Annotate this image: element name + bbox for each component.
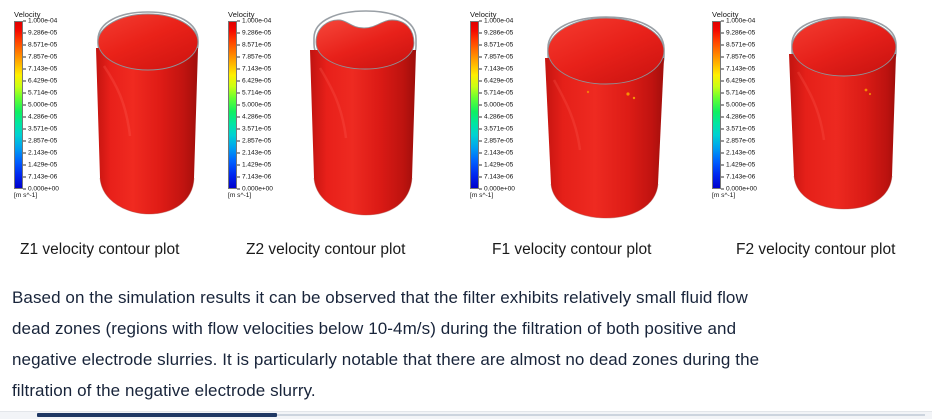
tick-dash-icon bbox=[479, 21, 482, 22]
tick-dash-icon bbox=[237, 44, 240, 45]
tick-dash-icon bbox=[23, 68, 26, 69]
colorbar-tick-label: 0.000e+00 bbox=[242, 186, 273, 193]
colorbar-tick-label: 0.000e+00 bbox=[726, 186, 757, 193]
colorbar-ticks: 1.000e-04 9.286e-05 8.571e-05 7.857e-05 … bbox=[479, 21, 532, 189]
tick-dash-icon bbox=[721, 44, 724, 45]
colorbar-tick-label: 7.143e-06 bbox=[242, 173, 271, 180]
tick-dash-icon bbox=[479, 189, 482, 190]
tick-dash-icon bbox=[479, 32, 482, 33]
tick-dash-icon bbox=[237, 32, 240, 33]
colorbar-tick-label: 5.714e-05 bbox=[484, 89, 513, 96]
cylinder-render-z1 bbox=[86, 6, 208, 221]
panel-caption-z1: Z1 velocity contour plot bbox=[20, 240, 179, 260]
colorbar-ticks: 1.000e-04 9.286e-05 8.571e-05 7.857e-05 … bbox=[721, 21, 774, 189]
colorbar-body: 1.000e-04 9.286e-05 8.571e-05 7.857e-05 … bbox=[228, 21, 290, 189]
colorbar-gradient bbox=[14, 21, 23, 189]
paragraph-line: Based on the simulation results it can b… bbox=[12, 282, 922, 313]
tick-dash-icon bbox=[479, 176, 482, 177]
tick-dash-icon bbox=[721, 189, 724, 190]
tick-dash-icon bbox=[237, 105, 240, 106]
colorbar-tick-label: 6.429e-05 bbox=[28, 77, 57, 84]
tick-dash-icon bbox=[479, 92, 482, 93]
tick-dash-icon bbox=[479, 164, 482, 165]
colorbar-tick-label: 5.000e-05 bbox=[28, 102, 57, 109]
tick-dash-icon bbox=[23, 56, 26, 57]
tick-dash-icon bbox=[23, 164, 26, 165]
colorbar-tick-label: 1.000e-04 bbox=[28, 18, 57, 25]
tick-dash-icon bbox=[721, 140, 724, 141]
tick-dash-icon bbox=[23, 92, 26, 93]
colorbar-tick-label: 7.143e-05 bbox=[28, 65, 57, 72]
tick-dash-icon bbox=[721, 105, 724, 106]
scrollbar-track[interactable] bbox=[277, 414, 925, 416]
colorbar-tick-label: 7.857e-05 bbox=[484, 53, 513, 60]
figure-panel-f1: Velocity 1.000e-04 9.286e-05 8.571e-05 7… bbox=[470, 0, 695, 275]
tick-dash-icon bbox=[479, 105, 482, 106]
colorbar-tick-label: 7.143e-06 bbox=[28, 173, 57, 180]
tick-dash-icon bbox=[23, 140, 26, 141]
tick-dash-icon bbox=[23, 32, 26, 33]
tick-dash-icon bbox=[23, 128, 26, 129]
tick-dash-icon bbox=[479, 116, 482, 117]
cylinder-render-z2 bbox=[300, 6, 428, 221]
tick-dash-icon bbox=[237, 152, 240, 153]
tick-dash-icon bbox=[237, 80, 240, 81]
tick-dash-icon bbox=[237, 68, 240, 69]
tick-dash-icon bbox=[721, 21, 724, 22]
colorbar-tick-label: 8.571e-05 bbox=[726, 41, 755, 48]
colorbar-tick-label: 1.429e-05 bbox=[726, 161, 755, 168]
colorbar-tick-label: 8.571e-05 bbox=[242, 41, 271, 48]
colorbar-tick-label: 2.143e-05 bbox=[484, 149, 513, 156]
colorbar-tick-label: 6.429e-05 bbox=[726, 77, 755, 84]
colorbar-tick-label: 1.429e-05 bbox=[242, 161, 271, 168]
tick-dash-icon bbox=[237, 56, 240, 57]
paragraph-line: dead zones (regions with flow velocities… bbox=[12, 313, 922, 344]
colorbar-tick-label: 9.286e-05 bbox=[28, 29, 57, 36]
tick-dash-icon bbox=[721, 92, 724, 93]
colorbar-tick-label: 7.143e-05 bbox=[726, 65, 755, 72]
colorbar-tick-label: 3.571e-05 bbox=[28, 125, 57, 132]
colorbar-tick-label: 7.143e-05 bbox=[484, 65, 513, 72]
colorbar-tick-label: 0.000e+00 bbox=[28, 186, 59, 193]
colorbar-tick-label: 7.857e-05 bbox=[242, 53, 271, 60]
colorbar-tick-label: 6.429e-05 bbox=[484, 77, 513, 84]
tick-dash-icon bbox=[237, 189, 240, 190]
scrollbar-thumb[interactable] bbox=[37, 413, 277, 417]
colorbar-tick-label: 2.857e-05 bbox=[726, 137, 755, 144]
colorbar-tick-label: 7.143e-06 bbox=[726, 173, 755, 180]
tick-dash-icon bbox=[721, 32, 724, 33]
tick-dash-icon bbox=[23, 176, 26, 177]
tick-dash-icon bbox=[237, 116, 240, 117]
panel-caption-f2: F2 velocity contour plot bbox=[736, 240, 895, 260]
colorbar-tick-label: 5.714e-05 bbox=[242, 89, 271, 96]
colorbar-legend-f2: Velocity 1.000e-04 9.286e-05 8.571e-05 7… bbox=[712, 10, 774, 200]
tick-dash-icon bbox=[721, 164, 724, 165]
horizontal-scrollbar[interactable] bbox=[0, 411, 932, 419]
colorbar-ticks: 1.000e-04 9.286e-05 8.571e-05 7.857e-05 … bbox=[23, 21, 76, 189]
paragraph-line: filtration of the negative electrode slu… bbox=[12, 375, 922, 406]
tick-dash-icon bbox=[23, 152, 26, 153]
colorbar-body: 1.000e-04 9.286e-05 8.571e-05 7.857e-05 … bbox=[14, 21, 76, 189]
colorbar-body: 1.000e-04 9.286e-05 8.571e-05 7.857e-05 … bbox=[712, 21, 774, 189]
tick-dash-icon bbox=[479, 68, 482, 69]
panel-caption-f1: F1 velocity contour plot bbox=[492, 240, 651, 260]
colorbar-tick-label: 5.000e-05 bbox=[242, 102, 271, 109]
colorbar-tick-label: 2.857e-05 bbox=[28, 137, 57, 144]
tick-dash-icon bbox=[721, 68, 724, 69]
colorbar-tick-label: 0.000e+00 bbox=[484, 186, 515, 193]
tick-dash-icon bbox=[479, 56, 482, 57]
tick-dash-icon bbox=[479, 44, 482, 45]
colorbar-tick-label: 5.000e-05 bbox=[484, 102, 513, 109]
body-paragraph: Based on the simulation results it can b… bbox=[12, 282, 922, 406]
tick-dash-icon bbox=[237, 140, 240, 141]
colorbar-gradient bbox=[712, 21, 721, 189]
colorbar-tick-label: 8.571e-05 bbox=[28, 41, 57, 48]
colorbar-tick-label: 5.000e-05 bbox=[726, 102, 755, 109]
tick-dash-icon bbox=[23, 21, 26, 22]
colorbar-tick-label: 2.857e-05 bbox=[484, 137, 513, 144]
tick-dash-icon bbox=[721, 128, 724, 129]
colorbar-body: 1.000e-04 9.286e-05 8.571e-05 7.857e-05 … bbox=[470, 21, 532, 189]
tick-dash-icon bbox=[23, 189, 26, 190]
tick-dash-icon bbox=[479, 152, 482, 153]
cylinder-render-f2 bbox=[780, 10, 910, 215]
colorbar-tick-label: 4.286e-05 bbox=[484, 113, 513, 120]
tick-dash-icon bbox=[237, 164, 240, 165]
colorbar-tick-label: 9.286e-05 bbox=[242, 29, 271, 36]
colorbar-tick-label: 1.000e-04 bbox=[484, 18, 513, 25]
tick-dash-icon bbox=[479, 128, 482, 129]
tick-dash-icon bbox=[721, 176, 724, 177]
tick-dash-icon bbox=[237, 92, 240, 93]
colorbar-tick-label: 6.429e-05 bbox=[242, 77, 271, 84]
colorbar-tick-label: 5.714e-05 bbox=[28, 89, 57, 96]
tick-dash-icon bbox=[721, 80, 724, 81]
tick-dash-icon bbox=[23, 80, 26, 81]
tick-dash-icon bbox=[479, 140, 482, 141]
colorbar-legend-z1: Velocity 1.000e-04 9.286e-05 8.571e-05 7… bbox=[14, 10, 76, 200]
colorbar-legend-f1: Velocity 1.000e-04 9.286e-05 8.571e-05 7… bbox=[470, 10, 532, 200]
colorbar-tick-label: 1.000e-04 bbox=[726, 18, 755, 25]
paragraph-line: negative electrode slurries. It is parti… bbox=[12, 344, 922, 375]
colorbar-tick-label: 1.000e-04 bbox=[242, 18, 271, 25]
panel-caption-z2: Z2 velocity contour plot bbox=[246, 240, 405, 260]
colorbar-gradient bbox=[228, 21, 237, 189]
figure-panel-f2: Velocity 1.000e-04 9.286e-05 8.571e-05 7… bbox=[712, 0, 932, 275]
tick-dash-icon bbox=[479, 80, 482, 81]
figure-row: Velocity 1.000e-04 9.286e-05 8.571e-05 7… bbox=[0, 0, 932, 275]
colorbar-tick-label: 4.286e-05 bbox=[242, 113, 271, 120]
colorbar-tick-label: 3.571e-05 bbox=[726, 125, 755, 132]
tick-dash-icon bbox=[237, 128, 240, 129]
tick-dash-icon bbox=[237, 21, 240, 22]
colorbar-gradient bbox=[470, 21, 479, 189]
colorbar-tick-label: 9.286e-05 bbox=[484, 29, 513, 36]
tick-dash-icon bbox=[237, 176, 240, 177]
tick-dash-icon bbox=[721, 152, 724, 153]
colorbar-tick-label: 2.143e-05 bbox=[726, 149, 755, 156]
colorbar-tick-label: 7.143e-06 bbox=[484, 173, 513, 180]
colorbar-tick-label: 8.571e-05 bbox=[484, 41, 513, 48]
tick-dash-icon bbox=[23, 116, 26, 117]
colorbar-tick-label: 4.286e-05 bbox=[726, 113, 755, 120]
colorbar-legend-z2: Velocity 1.000e-04 9.286e-05 8.571e-05 7… bbox=[228, 10, 290, 200]
figure-panel-z2: Velocity 1.000e-04 9.286e-05 8.571e-05 7… bbox=[228, 0, 443, 275]
colorbar-tick-label: 4.286e-05 bbox=[28, 113, 57, 120]
colorbar-tick-label: 7.857e-05 bbox=[28, 53, 57, 60]
colorbar-tick-label: 2.143e-05 bbox=[28, 149, 57, 156]
colorbar-tick-label: 2.143e-05 bbox=[242, 149, 271, 156]
tick-dash-icon bbox=[23, 44, 26, 45]
colorbar-tick-label: 2.857e-05 bbox=[242, 137, 271, 144]
colorbar-tick-label: 1.429e-05 bbox=[28, 161, 57, 168]
colorbar-tick-label: 5.714e-05 bbox=[726, 89, 755, 96]
colorbar-tick-label: 9.286e-05 bbox=[726, 29, 755, 36]
tick-dash-icon bbox=[721, 56, 724, 57]
figure-panel-z1: Velocity 1.000e-04 9.286e-05 8.571e-05 7… bbox=[14, 0, 214, 275]
cylinder-render-f1 bbox=[536, 8, 676, 223]
colorbar-tick-label: 3.571e-05 bbox=[242, 125, 271, 132]
tick-dash-icon bbox=[721, 116, 724, 117]
colorbar-tick-label: 7.857e-05 bbox=[726, 53, 755, 60]
colorbar-tick-label: 3.571e-05 bbox=[484, 125, 513, 132]
colorbar-tick-label: 7.143e-05 bbox=[242, 65, 271, 72]
tick-dash-icon bbox=[23, 105, 26, 106]
colorbar-tick-label: 1.429e-05 bbox=[484, 161, 513, 168]
colorbar-ticks: 1.000e-04 9.286e-05 8.571e-05 7.857e-05 … bbox=[237, 21, 290, 189]
